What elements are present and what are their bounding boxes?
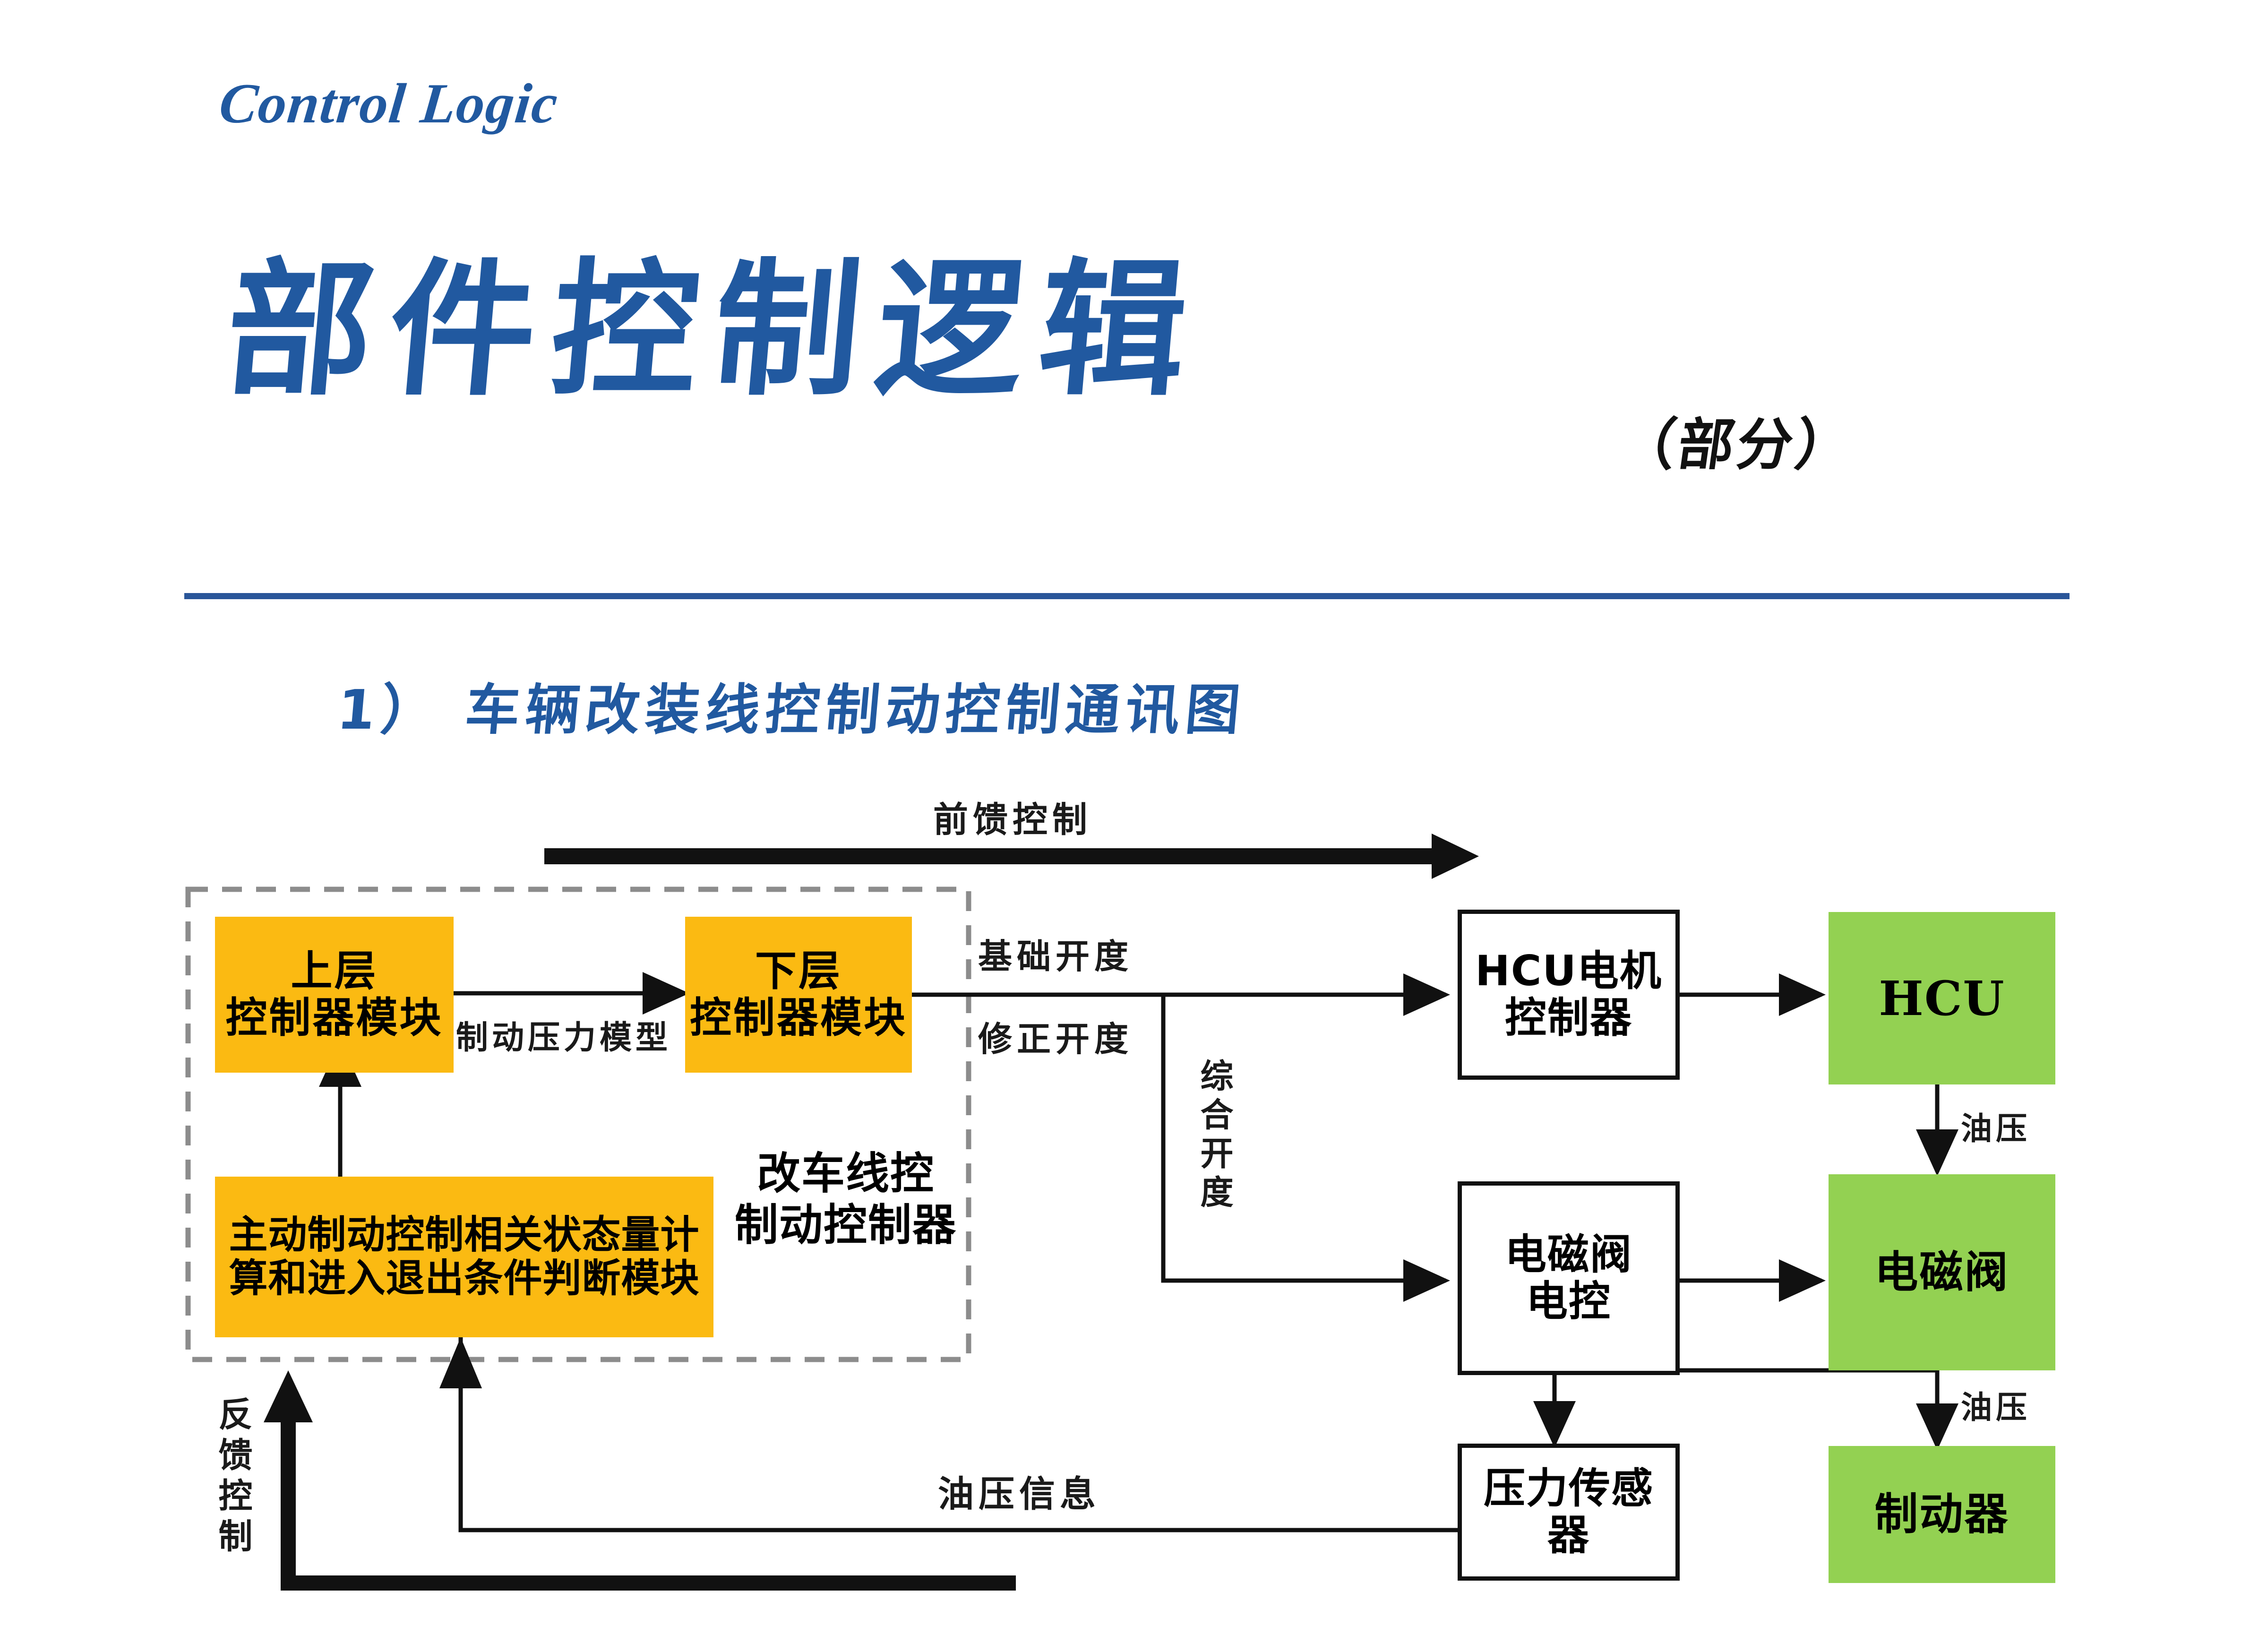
node-hcu[interactable]: HCU [1829,912,2055,1084]
node-label: 上层控制器模块 [225,948,443,1041]
node-label: 制动器 [1874,1490,2009,1539]
node-hcu-motor-controller[interactable]: HCU电机控制器 [1458,910,1680,1080]
node-brake[interactable]: 制动器 [1829,1446,2055,1583]
node-lower-controller[interactable]: 下层控制器模块 [685,917,912,1073]
edge-label-oil-pressure-info: 油压信息 [938,1465,1100,1517]
edge-label-corrected-opening: 修正开度 [978,1011,1133,1061]
node-solenoid-valve[interactable]: 电磁阀 [1829,1174,2055,1370]
diagram-connectors [0,0,2250,1652]
edge-sensor-feedback [461,1337,1554,1581]
node-label: 压力传感器 [1484,1465,1654,1558]
edge-label-combined-opening: 综合开度 [1191,1058,1238,1248]
node-state-calc-module[interactable]: 主动制动控制相关状态量计算和进入退出条件判断模块 [215,1177,713,1337]
feedback-arrow [264,1370,1016,1583]
edge-label-feedforward: 前馈控制 [933,792,1092,842]
node-upper-controller[interactable]: 上层控制器模块 [215,917,454,1073]
node-solenoid-ecu[interactable]: 电磁阀电控 [1458,1181,1680,1375]
node-label: 电磁阀电控 [1505,1231,1632,1325]
slide-canvas: Control Logic 部件控制逻辑 （部分） 1） 车辆改装线控制动控制通… [0,0,2250,1652]
node-pressure-sensor[interactable]: 压力传感器 [1458,1444,1680,1581]
node-label: HCU电机控制器 [1475,948,1662,1041]
edge-valve-to-sensor [1554,1370,1937,1444]
edge-label-oil-pressure-1: 油压 [1961,1103,2031,1149]
controller-group-label: 改车线控制动控制器 [735,1148,957,1251]
edge-label-feedback-control: 反馈控制 [208,1396,258,1576]
edge-label-brake-pressure-model: 制动压力模型 [456,1011,671,1058]
node-label: 主动制动控制相关状态量计算和进入退出条件判断模块 [229,1213,699,1300]
node-label: 下层控制器模块 [690,948,907,1041]
edge-label-oil-pressure-2: 油压 [1961,1382,2031,1428]
node-label: HCU [1879,972,2005,1025]
control-flow-diagram: 上层控制器模块 下层控制器模块 主动制动控制相关状态量计算和进入退出条件判断模块… [0,0,2250,1652]
edge-label-base-opening: 基础开度 [978,929,1133,978]
node-label: 电磁阀 [1874,1248,2009,1297]
